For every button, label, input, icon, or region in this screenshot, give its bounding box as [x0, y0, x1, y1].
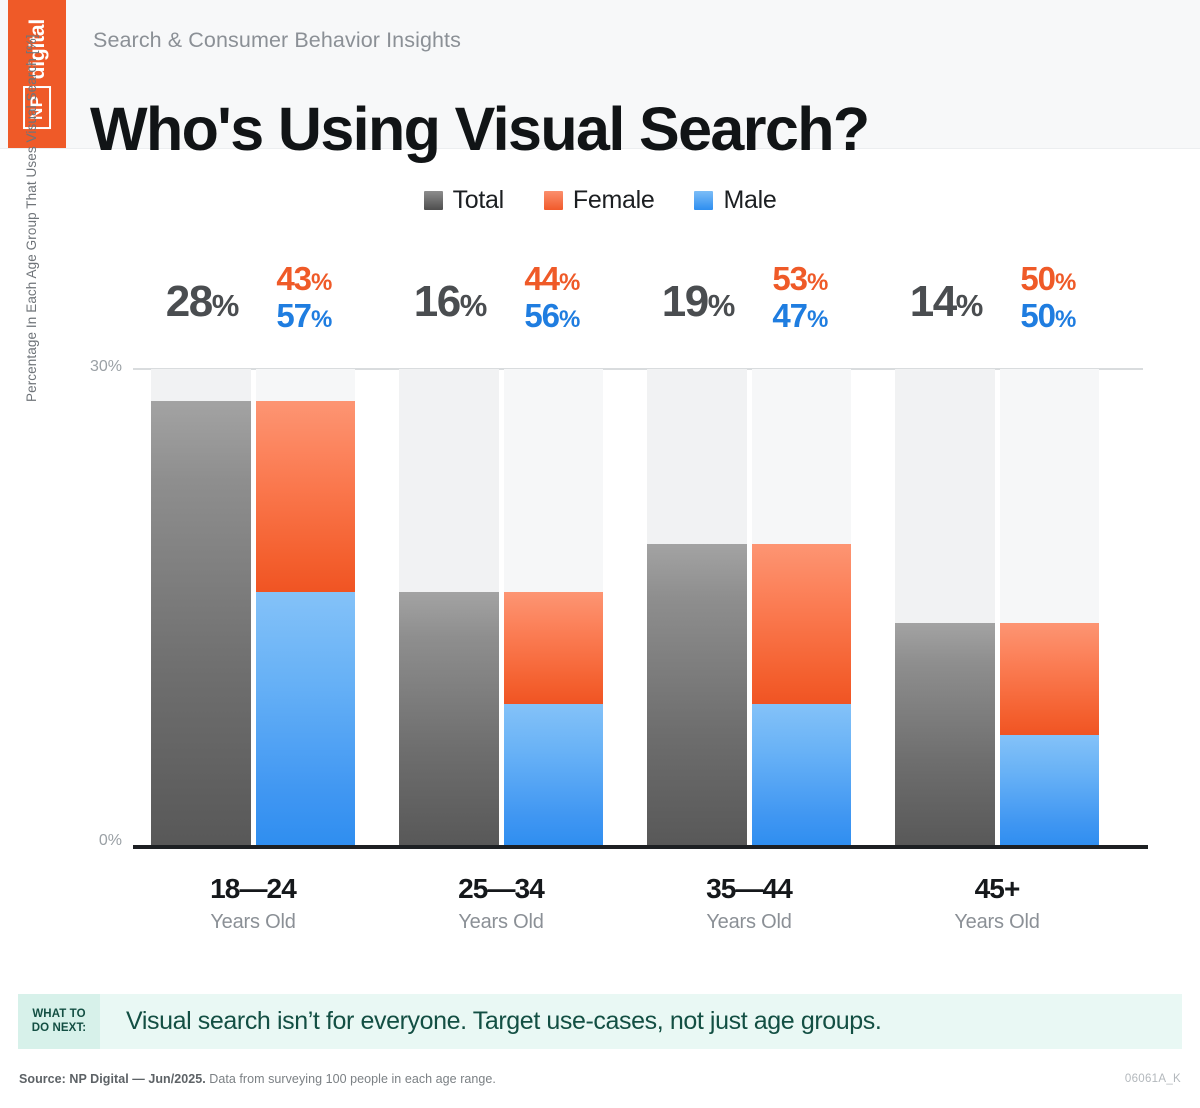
value-male-number: 57: [276, 297, 311, 334]
bar-segment-male: [752, 704, 852, 846]
bar-segment-male: [504, 704, 604, 846]
value-total-number: 14: [910, 277, 956, 326]
bar-segment-female: [256, 401, 356, 592]
x-label-25-34: 25—34 Years Old: [399, 872, 647, 934]
bar-total: [647, 544, 747, 846]
percent-sign: %: [460, 288, 487, 323]
x-label-range: 18—24: [151, 872, 355, 906]
x-label-sublabel: Years Old: [151, 911, 355, 934]
callout-tag-line-2: DO NEXT:: [32, 1022, 86, 1035]
callout-tag: WHAT TO DO NEXT:: [18, 994, 100, 1049]
value-total-45-plus: 14%: [895, 262, 997, 324]
value-labels-group-45-plus: 14% 50% 50%: [895, 262, 1143, 358]
bar-segment-female: [1000, 623, 1100, 734]
callout-tag-line-1: WHAT TO: [32, 1008, 85, 1021]
x-label-range: 35—44: [647, 872, 851, 906]
split-column-35-44: [752, 369, 852, 846]
bar-stack: [1000, 623, 1100, 846]
value-labels-group-18-24: 28% 43% 57%: [151, 262, 399, 358]
value-split-35-44: 53% 47%: [749, 262, 851, 332]
total-column-25-34: [399, 369, 499, 846]
value-split-25-34: 44% 56%: [501, 262, 603, 332]
x-label-45-plus: 45+ Years Old: [895, 872, 1143, 934]
bar-total: [895, 623, 995, 846]
infographic-canvas: NP digital Search & Consumer Behavior In…: [0, 0, 1200, 1108]
split-column-45-plus: [1000, 369, 1100, 846]
percent-sign: %: [1055, 306, 1076, 333]
value-labels-group-25-34: 16% 44% 56%: [399, 262, 647, 358]
value-male-number: 56: [524, 297, 559, 334]
bar-group-18-24: [151, 369, 399, 846]
source-note-bold: Source: NP Digital — Jun/2025.: [19, 1072, 206, 1086]
x-label-18-24: 18—24 Years Old: [151, 872, 399, 934]
what-to-do-next-callout: WHAT TO DO NEXT: Visual search isn’t for…: [18, 994, 1182, 1049]
x-label-35-44: 35—44 Years Old: [647, 872, 895, 934]
source-note: Source: NP Digital — Jun/2025. Data from…: [19, 1072, 496, 1086]
y-axis-tick-30: 30%: [62, 358, 122, 376]
source-note-rest: Data from surveying 100 people in each a…: [206, 1072, 496, 1086]
value-female-number: 44: [524, 260, 559, 297]
bar-total: [151, 401, 251, 846]
percent-sign: %: [956, 288, 983, 323]
x-axis-baseline: [133, 845, 1148, 849]
value-total-35-44: 19%: [647, 262, 749, 324]
x-label-range: 45+: [895, 872, 1099, 906]
y-axis-tick-0: 0%: [62, 832, 122, 850]
bar-group-35-44: [647, 369, 895, 846]
percent-sign: %: [807, 306, 828, 333]
x-label-sublabel: Years Old: [647, 911, 851, 934]
bar-group-45-plus: [895, 369, 1143, 846]
x-label-sublabel: Years Old: [895, 911, 1099, 934]
percent-sign: %: [559, 269, 580, 296]
x-axis-labels: 18—24 Years Old 25—34 Years Old 35—44 Ye…: [151, 872, 1143, 934]
value-split-18-24: 43% 57%: [253, 262, 355, 332]
bar-chart: Percentage In Each Age Group That Uses V…: [0, 0, 1200, 1108]
total-column-45-plus: [895, 369, 995, 846]
bar-segment-male: [256, 592, 356, 846]
value-male-number: 47: [772, 297, 807, 334]
value-total-18-24: 28%: [151, 262, 253, 324]
percent-sign: %: [212, 288, 239, 323]
value-split-45-plus: 50% 50%: [997, 262, 1099, 332]
value-labels-group-35-44: 19% 53% 47%: [647, 262, 895, 358]
percent-sign: %: [311, 269, 332, 296]
value-total-number: 16: [414, 277, 460, 326]
percent-sign: %: [559, 306, 580, 333]
value-male-number: 50: [1020, 297, 1055, 334]
value-label-row: 28% 43% 57% 16% 44% 56% 19%: [151, 262, 1143, 358]
percent-sign: %: [807, 269, 828, 296]
value-female-number: 50: [1020, 260, 1055, 297]
bar-stack: [752, 544, 852, 846]
bar-segment-female: [752, 544, 852, 704]
bar-stack: [504, 592, 604, 846]
percent-sign: %: [1055, 269, 1076, 296]
value-total-25-34: 16%: [399, 262, 501, 324]
value-female-number: 53: [772, 260, 807, 297]
total-column-18-24: [151, 369, 251, 846]
bar-segment-female: [504, 592, 604, 704]
document-code: 06061A_K: [1125, 1073, 1181, 1085]
total-column-35-44: [647, 369, 747, 846]
value-total-number: 28: [166, 277, 212, 326]
split-column-25-34: [504, 369, 604, 846]
bar-total: [399, 592, 499, 846]
bar-stack: [256, 401, 356, 846]
y-axis-title: Percentage In Each Age Group That Uses V…: [24, 0, 42, 402]
split-column-18-24: [256, 369, 356, 846]
value-female-number: 43: [276, 260, 311, 297]
callout-text: Visual search isn’t for everyone. Target…: [100, 994, 881, 1049]
bar-groups: [151, 369, 1143, 846]
x-label-range: 25—34: [399, 872, 603, 906]
percent-sign: %: [708, 288, 735, 323]
x-label-sublabel: Years Old: [399, 911, 603, 934]
value-total-number: 19: [662, 277, 708, 326]
percent-sign: %: [311, 306, 332, 333]
bar-group-25-34: [399, 369, 647, 846]
bar-segment-male: [1000, 735, 1100, 846]
